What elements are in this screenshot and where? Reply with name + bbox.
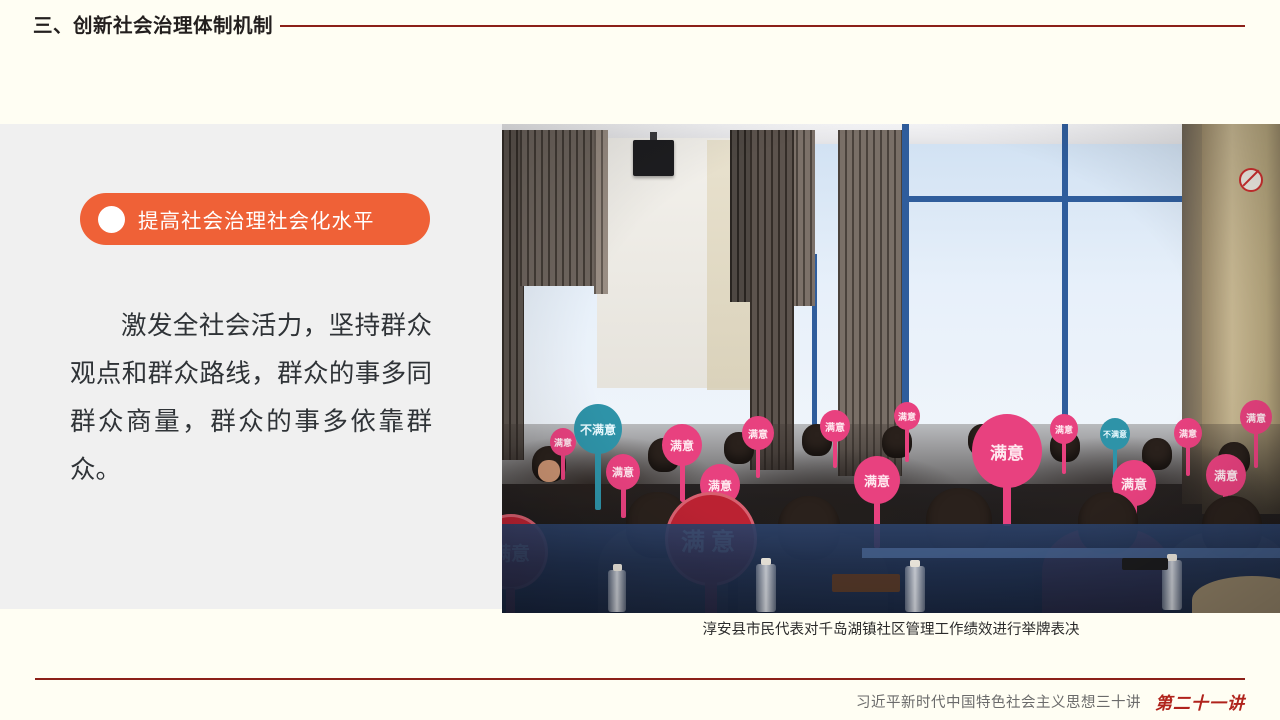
slide-footer: 习近平新时代中国特色社会主义思想三十讲 第二十一讲 bbox=[0, 684, 1280, 718]
curtain bbox=[594, 130, 608, 294]
topic-badge-label: 提高社会治理社会化水平 bbox=[138, 204, 375, 234]
notebook bbox=[832, 574, 900, 592]
footer-lecture-number: 第二十一讲 bbox=[1155, 689, 1245, 714]
header-divider bbox=[280, 25, 1245, 27]
slide-root: 三、创新社会治理体制机制 提高社会治理社会化水平 激发全社会活力，坚持群众观点和… bbox=[0, 0, 1280, 720]
curtain bbox=[520, 130, 598, 286]
slide-header: 三、创新社会治理体制机制 bbox=[0, 0, 1280, 52]
audience-face bbox=[538, 460, 560, 482]
table-edge bbox=[862, 548, 1280, 558]
water-bottle bbox=[756, 564, 776, 612]
page-title: 三、创新社会治理体制机制 bbox=[33, 9, 273, 38]
circle-bullet-icon bbox=[98, 206, 125, 233]
footer-divider bbox=[35, 678, 1245, 680]
body-paragraph: 激发全社会活力，坚持群众观点和群众路线，群众的事多同群众商量，群众的事多依靠群众… bbox=[70, 302, 432, 494]
water-bottle bbox=[608, 570, 626, 612]
photo-caption: 淳安县市民代表对千岛湖镇社区管理工作绩效进行举牌表决 bbox=[502, 618, 1280, 639]
topic-badge: 提高社会治理社会化水平 bbox=[80, 193, 430, 245]
window-mullion bbox=[1062, 124, 1068, 424]
no-smoking-icon bbox=[1239, 168, 1263, 192]
ceiling-speaker bbox=[633, 140, 674, 176]
photo-meeting-hall: 满意 满意 不满意 满意 满意 满意 bbox=[502, 124, 1280, 613]
window-mullion bbox=[897, 196, 1197, 202]
photo-scene: 满意 满意 不满意 满意 满意 满意 bbox=[502, 124, 1280, 613]
water-bottle bbox=[905, 566, 925, 612]
footer-series-title: 习近平新时代中国特色社会主义思想三十讲 bbox=[856, 691, 1141, 712]
mobile-phone bbox=[1122, 558, 1168, 570]
